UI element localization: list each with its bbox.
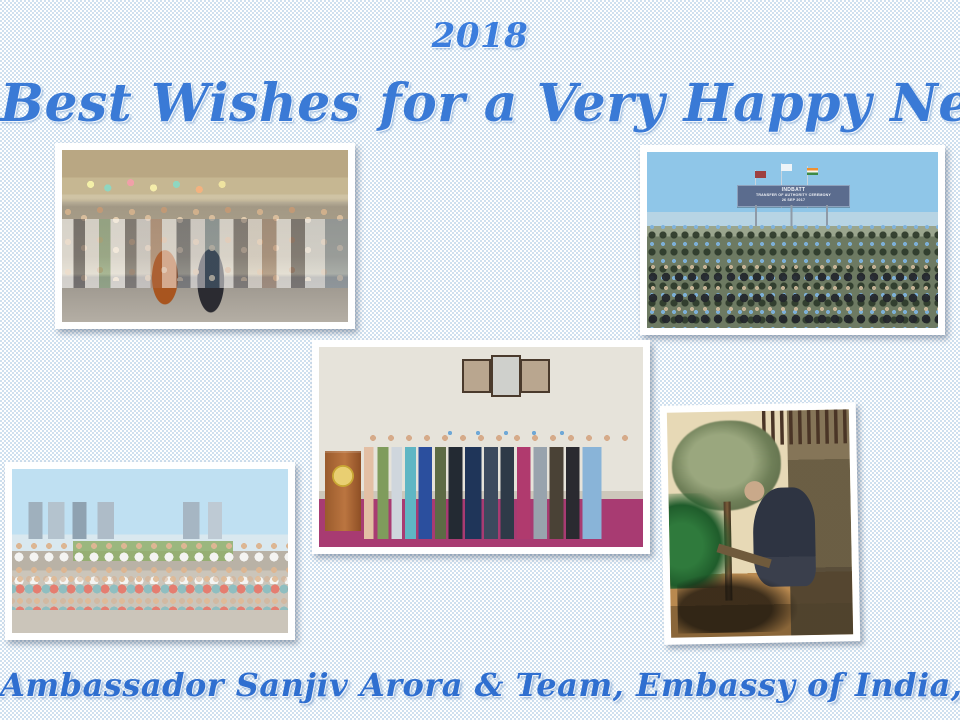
ceremony-banner: INDBATT TRANSFER OF AUTHORITY CEREMONY 2… (737, 185, 850, 206)
wall-portrait-center (491, 355, 521, 397)
seated-crowd-overlay (12, 574, 288, 610)
metal-railing (761, 409, 849, 444)
photo-image-flag-ceremony (62, 150, 348, 322)
flag-un-white (781, 164, 792, 171)
banner-line-3: 26 SEP 2017 (738, 198, 849, 203)
podium (325, 451, 361, 531)
greeting-card-canvas: 2018 Best Wishes for a Very Happy New Ye… (0, 0, 960, 720)
soil-and-shadow (677, 572, 798, 633)
flag-maroon (755, 171, 766, 178)
indbatt-transfer-of-authority-photo: INDBATT TRANSFER OF AUTHORITY CEREMONY 2… (640, 145, 945, 335)
photo-image-tree-planting (667, 409, 853, 637)
group-attendees (364, 447, 636, 539)
peacekeeper-formation-front (647, 261, 938, 328)
national-emblem-icon (332, 465, 354, 487)
flag-hoisting-ceremony-photo (55, 143, 355, 329)
year-title: 2018 (0, 16, 960, 56)
flag-india-tricolour (807, 168, 818, 175)
banner-line-1: INDBATT (738, 186, 849, 193)
photo-image-indoor-group (319, 347, 643, 547)
collage-caption: Ambassador Sanjiv Arora & Team, Embassy … (0, 664, 960, 706)
crowd-clothing (62, 219, 348, 288)
embassy-indoor-group-photo (312, 340, 650, 554)
wall-portrait-left (462, 359, 492, 393)
beirut-skyline-group-photo (5, 462, 295, 640)
tree-planting-photo (660, 402, 861, 645)
greeting-title: Best Wishes for a Very Happy New Year (0, 72, 960, 136)
photo-image-indbatt: INDBATT TRANSFER OF AUTHORITY CEREMONY 2… (647, 152, 938, 328)
photo-image-skyline-group (12, 469, 288, 633)
wall-portrait-right (520, 359, 550, 393)
